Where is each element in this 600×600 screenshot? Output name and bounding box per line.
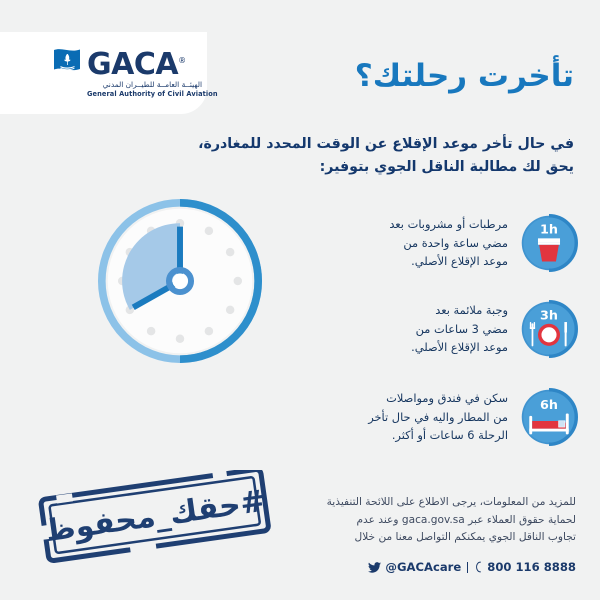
- infographic-root: GACA® الهيئــة العامــة للطيــران المدني…: [0, 0, 600, 600]
- page-subtitle: في حال تأخر موعد الإقلاع عن الوقت المحدد…: [174, 133, 574, 179]
- badge-duration-3h: 3h: [540, 309, 558, 324]
- logo-subtitle-english: General Authority of Civil Aviation: [87, 90, 218, 98]
- benefit-row-1h: مرطبات أو مشروبات بعد مضي ساعة واحدة من …: [358, 214, 578, 272]
- phone-contact[interactable]: 800 116 8888: [474, 560, 576, 574]
- subtitle-line-2: يحق لك مطالبة الناقل الجوي بتوفير:: [174, 156, 574, 179]
- rubber-stamp-icon: #حقك_محفوظ: [30, 470, 280, 565]
- subtitle-line-1: في حال تأخر موعد الإقلاع عن الوقت المحدد…: [174, 133, 574, 156]
- gaca-logo: GACA® الهيئــة العامــة للطيــران المدني…: [52, 46, 218, 98]
- benefit-text-1h: مرطبات أو مشروبات بعد مضي ساعة واحدة من …: [358, 215, 508, 270]
- benefit-6h-line-2: من المطار واليه في حال تأخر: [358, 408, 508, 426]
- saudi-flag-palm-swords-icon: [52, 46, 82, 76]
- benefit-1h-line-1: مرطبات أو مشروبات بعد: [358, 215, 508, 233]
- phone-handset-icon: [474, 561, 483, 573]
- benefit-text-6h: سكن في فندق ومواصلات من المطار واليه في …: [358, 389, 508, 444]
- benefit-3h-line-2: مضي 3 ساعات من: [358, 320, 508, 338]
- footer-line-3: تجاوب الناقل الجوي يمكنكم التواصل معنا م…: [286, 529, 576, 547]
- twitter-contact[interactable]: @GACAcare: [368, 560, 461, 574]
- benefit-row-6h: سكن في فندق ومواصلات من المطار واليه في …: [358, 388, 578, 446]
- benefit-1h-line-2: مضي ساعة واحدة من: [358, 234, 508, 252]
- badge-duration-6h: 6h: [540, 398, 558, 413]
- logo-wordmark: GACA®: [87, 46, 218, 79]
- footer-disclaimer: للمزيد من المعلومات، يرجى الاطلاع على ال…: [286, 494, 576, 547]
- registered-mark: ®: [178, 56, 186, 65]
- benefit-row-3h: وجبة ملائمة بعد مضي 3 ساعات من موعد الإق…: [358, 300, 578, 358]
- page-title: تأخرت رحلتك؟: [355, 57, 574, 96]
- twitter-handle: @GACAcare: [385, 560, 461, 574]
- benefit-6h-line-3: الرحلة 6 ساعات أو أكثر.: [358, 426, 508, 444]
- contact-divider: [467, 562, 468, 573]
- footer-line-1: للمزيد من المعلومات، يرجى الاطلاع على ال…: [286, 494, 576, 512]
- badge-duration-1h: 1h: [540, 223, 558, 238]
- wall-clock-icon: [95, 196, 265, 366]
- logo-wordmark-text: GACA: [87, 47, 178, 82]
- drink-cup-icon: 1h: [520, 214, 578, 272]
- benefit-text-3h: وجبة ملائمة بعد مضي 3 ساعات من موعد الإق…: [358, 301, 508, 356]
- meal-plate-cutlery-icon: 3h: [520, 300, 578, 358]
- phone-number: 800 116 8888: [487, 560, 576, 574]
- benefit-6h-line-1: سكن في فندق ومواصلات: [358, 389, 508, 407]
- benefit-3h-line-3: موعد الإقلاع الأصلي.: [358, 338, 508, 356]
- benefit-3h-line-1: وجبة ملائمة بعد: [358, 301, 508, 319]
- footer-line-2: لحماية حقوق العملاء عبر gaca.gov.sa وعند…: [286, 512, 576, 530]
- twitter-bird-icon: [368, 562, 381, 573]
- contact-row: @GACAcare 800 116 8888: [368, 560, 576, 574]
- benefit-1h-line-3: موعد الإقلاع الأصلي.: [358, 252, 508, 270]
- hotel-bed-icon: 6h: [520, 388, 578, 446]
